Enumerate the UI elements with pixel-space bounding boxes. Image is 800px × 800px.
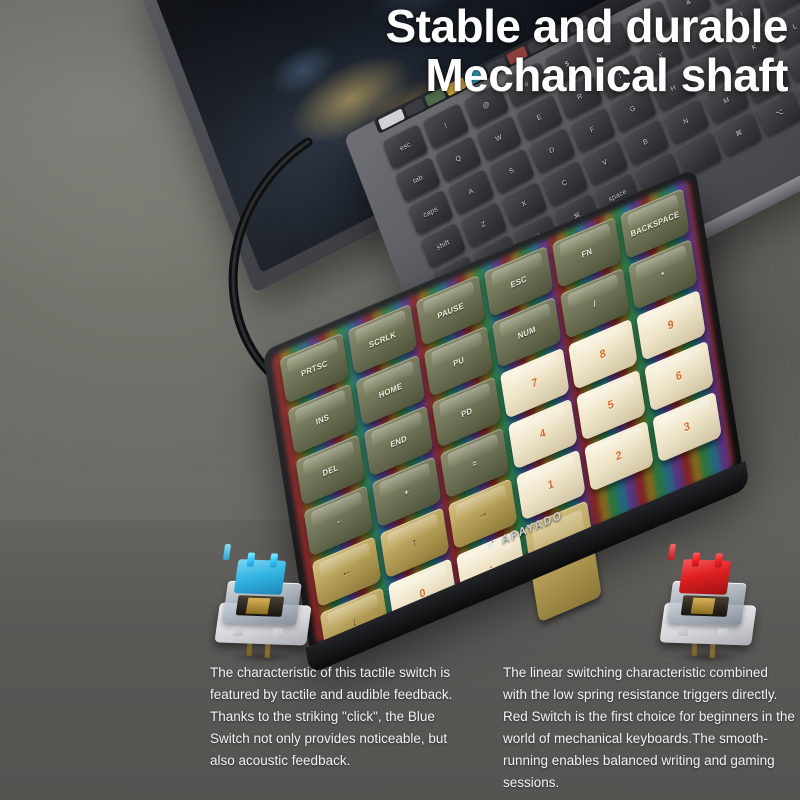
switch-stem [679,559,732,595]
numpad-key-label: / [593,298,597,308]
product-banner: esc!@#$%^&*()deltabQWERTYUIOP{capsASDFGH… [0,0,800,800]
numpad-key-label: → [477,506,489,523]
switch-cross-mount [668,544,676,560]
numpad-key-label: END [390,433,408,449]
numpad-key-label: INS [315,412,330,427]
numpad-key-label: 7 [531,376,539,391]
numpad-key-label: DEL [322,462,339,478]
switch-leg [718,628,728,638]
blue-switch [203,552,323,667]
numpad-key-label: PD [461,405,473,419]
numpad-key-label: 4 [539,427,547,442]
numpad-key-label: SCRLK [368,329,396,350]
numpad-key-label: 8 [599,347,607,362]
page-title: Stable and durable Mechanical shaft [28,2,788,100]
numpad-key-label: 3 [683,420,691,435]
numpad-key-label: ESC [510,274,527,290]
numpad-key-label: 9 [667,318,675,333]
numpad-key-label: 6 [675,369,683,384]
numpad-key-label: 2 [615,449,623,464]
numpad-key-label: ↑ [411,536,418,550]
red-switch-caption: The linear switching characteristic comb… [503,662,795,794]
numpad-key-label: 5 [607,398,615,413]
headline-line-1: Stable and durable [28,2,788,51]
switch-contact-leaf [691,598,716,615]
numpad-key-label: * [661,269,666,279]
switch-cross-mount [223,544,231,560]
numpad-key-label: - [336,516,340,526]
numpad-key-label: FN [581,246,593,260]
numpad-key-label: 1 [547,478,555,493]
switch-leg [678,626,688,636]
switch-stem [234,559,287,595]
switch-leg [273,628,283,638]
numpad-key-label: HOME [378,381,403,400]
numpad-key-label: PU [453,354,465,368]
numpad-key-label: PAUSE [437,300,465,320]
switch-contact-leaf [246,598,271,615]
headline-line-2: Mechanical shaft [28,51,788,100]
switch-leg [233,626,243,636]
numpad-key-label: ← [340,564,352,581]
numpad-key-label: PRTSC [300,358,328,378]
numpad-key-label: + [404,486,410,497]
numpad-key-label: = [472,458,478,469]
numpad-key-label: NUM [517,324,536,341]
red-switch [648,552,768,667]
red-switch-description: The linear switching characteristic comb… [503,662,795,794]
numpad-key-label: BACKSPACE [630,209,680,239]
blue-switch-caption: The characteristic of this tactile switc… [210,662,460,772]
blue-switch-description: The characteristic of this tactile switc… [210,662,460,772]
